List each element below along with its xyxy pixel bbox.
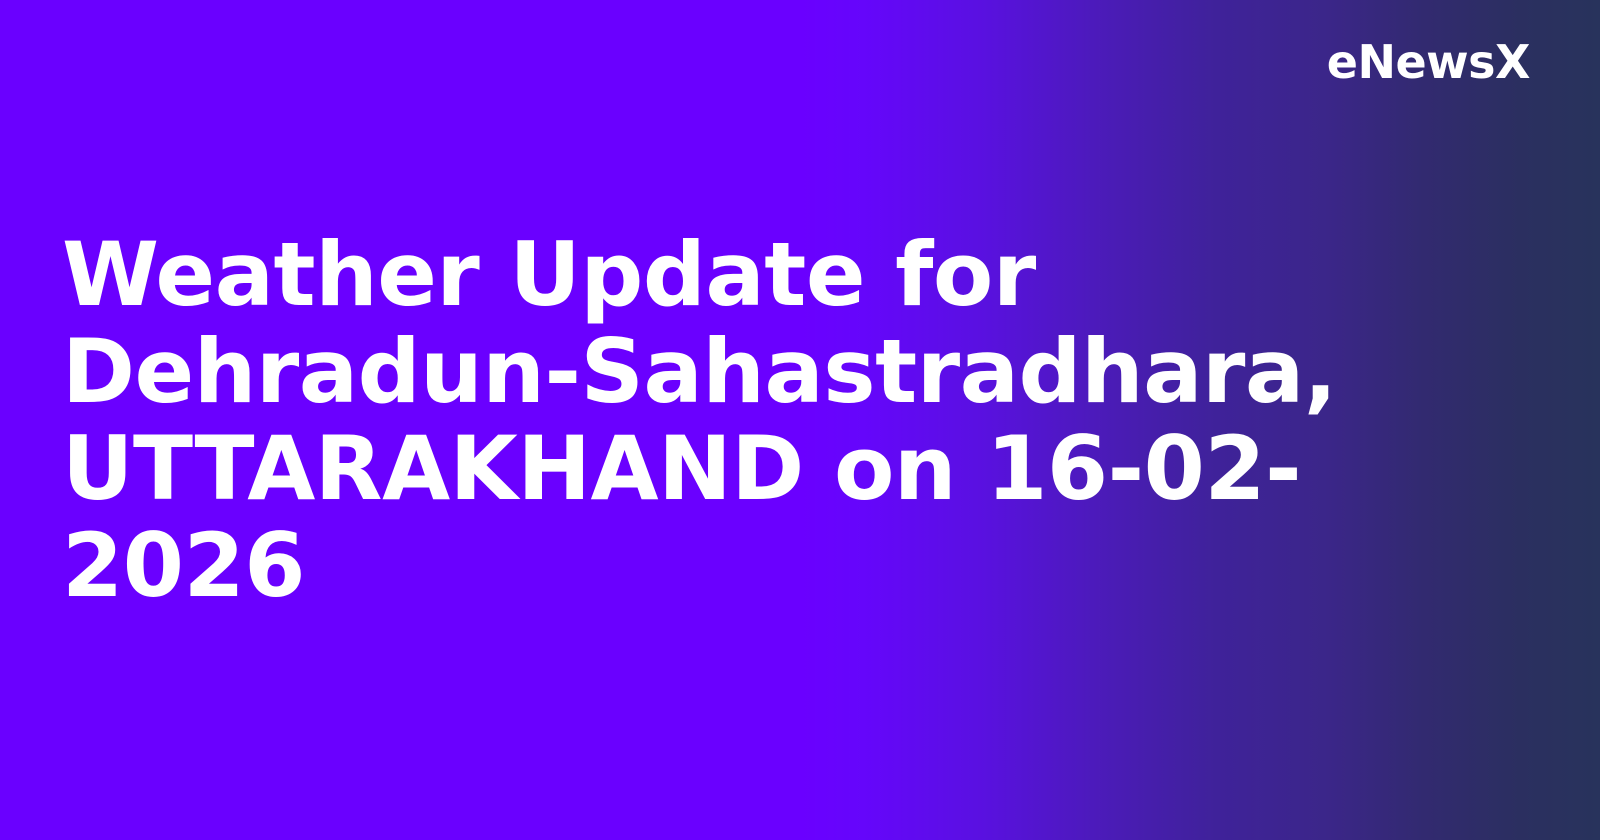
headline-container: Weather Update for Dehradun-Sahastradhar… [62,0,1542,840]
news-banner: eNewsX Weather Update for Dehradun-Sahas… [0,0,1600,840]
page-title: Weather Update for Dehradun-Sahastradhar… [62,226,1492,614]
